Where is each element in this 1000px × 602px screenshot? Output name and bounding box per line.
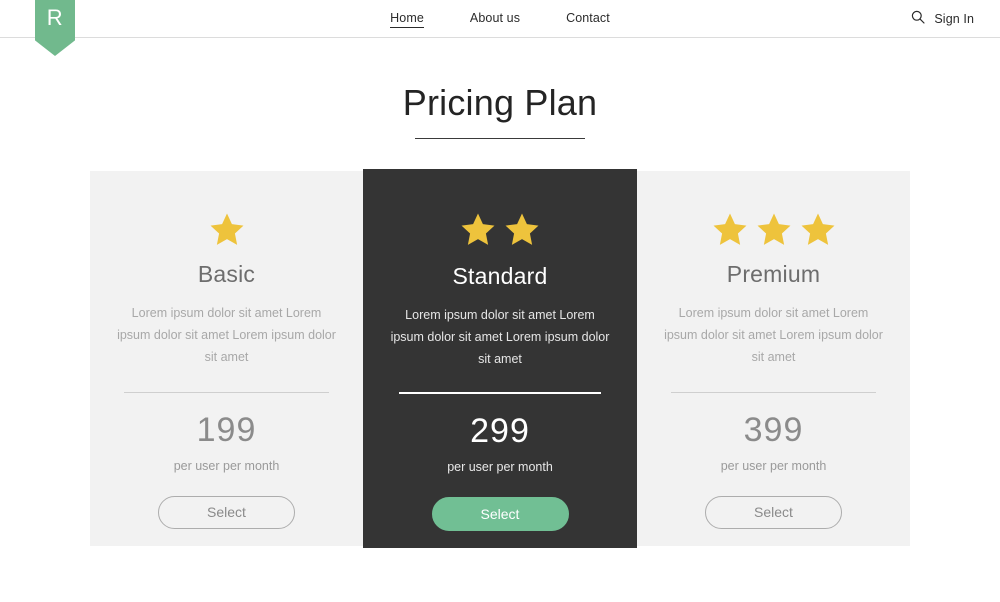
plan-card-premium[interactable]: Premium Lorem ipsum dolor sit amet Lorem… bbox=[637, 171, 910, 546]
plan-price-unit: per user per month bbox=[387, 460, 613, 474]
plan-card-basic[interactable]: Basic Lorem ipsum dolor sit amet Lorem i… bbox=[90, 171, 363, 546]
plan-price: 299 bbox=[387, 414, 613, 448]
nav-item-contact[interactable]: Contact bbox=[566, 11, 610, 27]
search-icon[interactable] bbox=[911, 10, 925, 29]
star-icon bbox=[710, 211, 750, 249]
plan-name: Basic bbox=[114, 261, 339, 288]
plan-price-unit: per user per month bbox=[661, 459, 886, 473]
logo-letter: R bbox=[47, 7, 63, 29]
star-icon bbox=[754, 211, 794, 249]
title-underline bbox=[415, 138, 585, 139]
plan-price: 199 bbox=[114, 413, 339, 447]
header-actions: Sign In bbox=[911, 0, 974, 38]
plan-card-standard[interactable]: Standard Lorem ipsum dolor sit amet Lore… bbox=[363, 169, 637, 548]
page-title: Pricing Plan bbox=[0, 84, 1000, 122]
page-title-section: Pricing Plan bbox=[0, 84, 1000, 139]
site-header: R Home About us Contact Sign In bbox=[0, 0, 1000, 38]
star-icon bbox=[798, 211, 838, 249]
star-icon bbox=[502, 211, 542, 249]
logo[interactable]: R bbox=[35, 0, 75, 56]
plan-price: 399 bbox=[661, 413, 886, 447]
plan-description: Lorem ipsum dolor sit amet Lorem ipsum d… bbox=[387, 304, 613, 370]
select-button[interactable]: Select bbox=[432, 497, 569, 531]
plan-divider bbox=[671, 392, 876, 393]
plan-stars bbox=[387, 205, 613, 255]
plan-name: Standard bbox=[387, 263, 613, 290]
star-icon bbox=[207, 211, 247, 249]
plan-name: Premium bbox=[661, 261, 886, 288]
nav-item-about-us[interactable]: About us bbox=[470, 11, 520, 27]
plan-description: Lorem ipsum dolor sit amet Lorem ipsum d… bbox=[661, 302, 886, 368]
sign-in-link[interactable]: Sign In bbox=[934, 12, 974, 26]
select-button[interactable]: Select bbox=[705, 496, 842, 529]
plan-description: Lorem ipsum dolor sit amet Lorem ipsum d… bbox=[114, 302, 339, 368]
pricing-plans: Basic Lorem ipsum dolor sit amet Lorem i… bbox=[0, 169, 1000, 548]
select-button[interactable]: Select bbox=[158, 496, 295, 529]
star-icon bbox=[458, 211, 498, 249]
plan-divider bbox=[399, 392, 601, 394]
nav-item-home[interactable]: Home bbox=[390, 11, 424, 28]
plan-price-unit: per user per month bbox=[114, 459, 339, 473]
plan-divider bbox=[124, 392, 329, 393]
main-nav: Home About us Contact bbox=[0, 0, 1000, 38]
plan-stars bbox=[661, 205, 886, 255]
plan-stars bbox=[114, 205, 339, 255]
